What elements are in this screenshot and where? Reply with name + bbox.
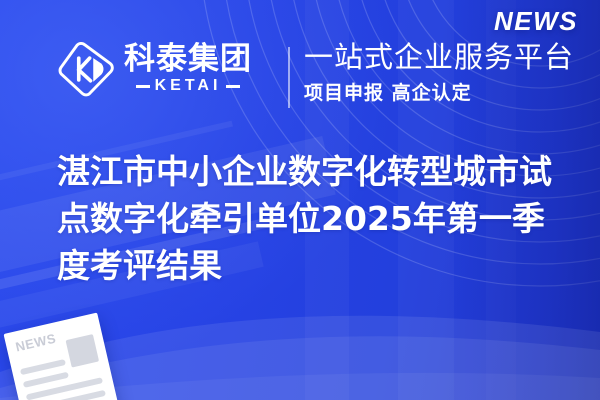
wordmark-dash-left [136,85,150,88]
newspaper-text-lines [20,352,114,400]
brand-name-cn: 科泰集团 [124,43,252,76]
header-divider [288,47,290,108]
brand-name-en: KETAI [155,77,222,95]
ketai-diamond-logo-mark-icon [57,40,115,98]
brand-name-en-row: KETAI [136,77,241,95]
news-banner: NEWS 科泰集团 KETAI [0,0,600,400]
page-title: 湛江市中小企业数字化转型城市试点数字化牵引单位2025年第一季度考评结果 [57,148,577,290]
slogan-secondary: 项目申报 高企认定 [304,78,574,105]
brand-wordmark: 科泰集团 KETAI [124,43,252,95]
brand-logo[interactable]: 科泰集团 KETAI [57,40,252,98]
wordmark-dash-right [226,85,240,88]
news-label: NEWS [494,6,578,37]
banner-header: NEWS 科泰集团 KETAI [0,0,600,132]
slogan-block: 一站式企业服务平台 项目申报 高企认定 [304,40,574,105]
slogan-primary: 一站式企业服务平台 [304,40,574,74]
